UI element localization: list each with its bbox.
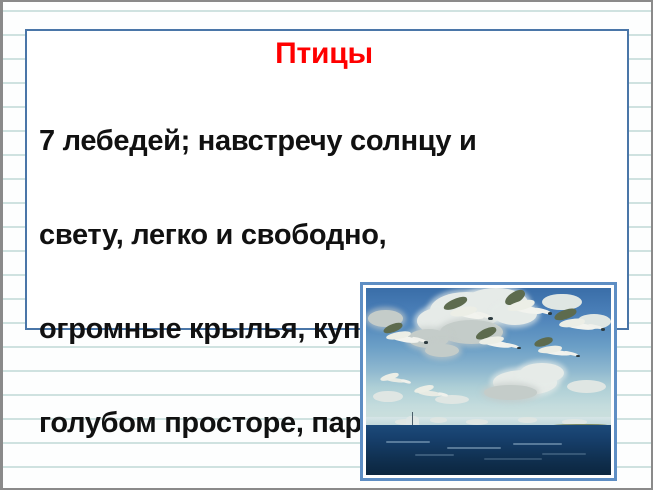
swan-2: [498, 292, 557, 329]
swan-7: [376, 370, 415, 392]
swan-4: [378, 324, 432, 356]
sea-streak-2: [447, 447, 501, 449]
body-line-1: 7 лебедей; навстречу солнцу и: [39, 118, 621, 165]
page-title: Птицы: [35, 37, 621, 71]
picture-frame[interactable]: [360, 282, 617, 481]
swan-6: [530, 338, 584, 368]
cloud-18: [430, 417, 447, 423]
cloud-14: [567, 380, 606, 393]
painting-image: [366, 288, 611, 475]
sea-streak-3: [513, 443, 562, 445]
sea-streak-5: [484, 458, 543, 460]
body-line-2: свету, легко и свободно,: [39, 212, 621, 259]
painting-sea: [366, 425, 611, 475]
swan-8: [410, 382, 452, 406]
cloud-20: [518, 417, 538, 423]
slide-canvas: Птицы 7 лебедей; навстречу солнцу и свет…: [0, 0, 653, 490]
sea-streak-6: [542, 453, 586, 455]
swan-5: [471, 329, 525, 361]
